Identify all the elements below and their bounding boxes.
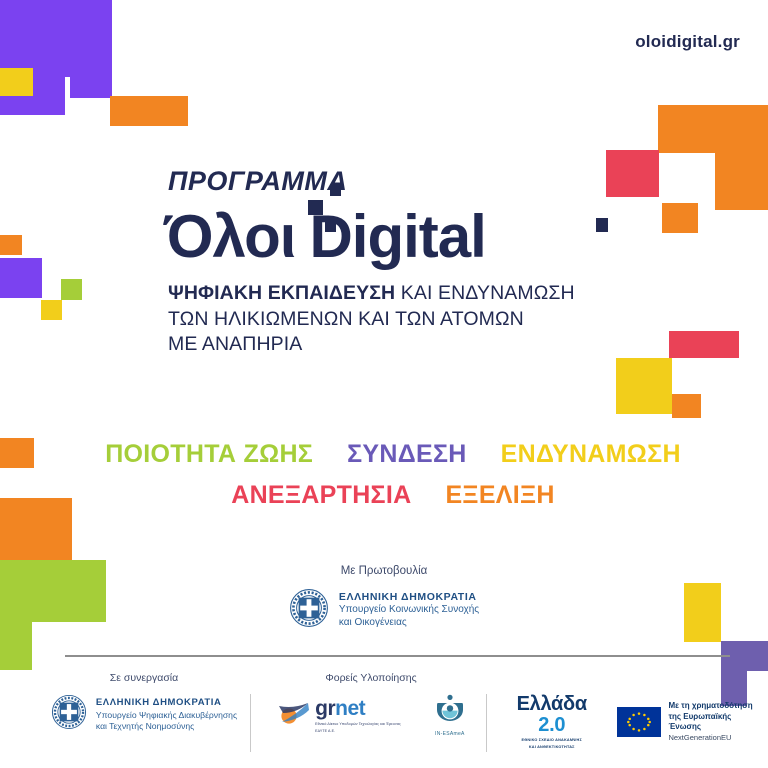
deco-purple-tl-arm [0,0,65,115]
ellada-subtitle-1: ΕΘΝΙΚΟ ΣΧΕΔΙΟ ΑΝΑΚΑΜΨΗΣ [504,738,599,743]
grnet-subtitle-2: ΕΔΥΤΕ Α.Ε. [315,729,401,734]
pixel-dot-icon [330,185,341,196]
pixel-dot-icon [308,200,323,215]
subtitle-emphasis: ΨΗΦΙΑΚΗ ΕΚΠΑΙΔΕΥΣΗ [168,282,395,304]
ellada-version: 2.0 [538,714,565,736]
inesamea-emblem-icon [435,711,465,728]
footer-separator [486,694,487,752]
keyword-list: ΠΟΙΟΤΗΤΑ ΖΩΗΣΣΥΝΔΕΣΗΕΝΔΥΝΑΜΩΣΗ ΑΝΕΞΑΡΤΗΣ… [0,440,768,510]
keyword-2: ΣΥΝΔΕΣΗ [347,440,467,469]
program-kicker: ΠΡΟΓΡΑΜΜΑ [168,168,636,195]
initiative-label: Με Πρωτοβουλία [0,565,768,577]
initiative-emblem-sub-2: και Οικογένειας [339,617,479,630]
eu-funding-line-3: NextGenerationEU [668,733,756,743]
keyword-1: ΠΟΙΟΤΗΤΑ ΖΩΗΣ [105,440,313,469]
keyword-3: ΕΝΔΥΝΑΜΩΣΗ [501,440,681,469]
subtitle-rest: ΚΑΙ ΕΝΔΥΝΑΜΩΣΗ [395,282,575,304]
deco-orange-tr-arm [715,105,768,210]
keyword-1: ΑΝΕΞΑΡΤΗΣΙΑ [231,481,411,510]
initiative-emblem-text: ΕΛΛΗΝΙΚΗ ΔΗΜΟΚΡΑΤΙΑ Υπουργείο Κοινωνικής… [339,591,479,630]
deco-purple-left [0,258,42,298]
ellada-2-logo: Ελλάδα 2.0 ΕΘΝΙΚΟ ΣΧΕΔΙΟ ΑΝΑΚΑΜΨΗΣ ΚΑΙ Α… [504,694,599,750]
deco-orange-tl [110,96,188,126]
footer-cooperation-column: Σε συνεργασία ΕΛΛΗΝΙΚΗ ΔΗΜΟΚΡΑΤΙΑ Υπουργ… [38,672,250,735]
poster-canvas: oloidigital.gr ΠΡΟΓΡΑΜΜΑ Όλοι Digital ΨΗ… [0,0,768,768]
deco-red-right [669,331,739,358]
grnet-word-net: net [335,697,365,720]
ellada-subtitle-2: ΚΑΙ ΑΝΘΕΚΤΙΚΟΤΗΤΑΣ [504,745,599,750]
initiative-emblem-title: ΕΛΛΗΝΙΚΗ ΔΗΜΟΚΡΑΤΙΑ [339,591,479,604]
grnet-word-gr: gr [315,697,335,720]
title-latin-wrap: Digital [309,207,485,267]
cooperation-emblem-sub-1: Υπουργείο Ψηφιακής Διακυβέρνησης [96,710,237,721]
initiative-block: Με Πρωτοβουλία ΕΛΛΗΝΙΚΗ ΔΗΜΟΚΡΑΤΙΑ Υπουρ… [0,565,768,633]
ellada-word: Ελλάδα [517,693,587,715]
grnet-swoosh-icon [277,700,311,731]
deco-orange-tr-sm [662,203,698,233]
keyword-2: ΕΞΕΛΙΞΗ [445,481,554,510]
footer-implementation-column: Φορείς Υλοποίησης grnet Εθνικό Δίκτυο Υπ… [262,672,480,737]
cooperation-emblem-title: ΕΛΛΗΝΙΚΗ ΔΗΜΟΚΡΑΤΙΑ [96,697,237,709]
deco-purple-tl-low [70,50,112,98]
grnet-subtitle-1: Εθνικό Δίκτυο Υποδομών Τεχνολογίας και Έ… [315,722,401,727]
eu-flag-icon [617,707,661,737]
deco-yellow-right [616,358,672,414]
implementation-label: Φορείς Υλοποίησης [262,672,480,684]
title-greek: Όλοι [164,207,295,267]
footer-block: Σε συνεργασία ΕΛΛΗΝΙΚΗ ΔΗΜΟΚΡΑΤΙΑ Υπουργ… [0,672,768,768]
deco-green-left [61,279,82,300]
eu-funding-logo: Με τη χρηματοδότηση της Ευρωπαϊκής Ένωση… [617,701,756,743]
keyword-row-1: ΠΟΙΟΤΗΤΑ ΖΩΗΣΣΥΝΔΕΣΗΕΝΔΥΝΑΜΩΣΗ [0,440,768,469]
program-title: Όλοι Digital [164,197,636,267]
cooperation-emblem-row: ΕΛΛΗΝΙΚΗ ΔΗΜΟΚΡΑΤΙΑ Υπουργείο Ψηφιακής Δ… [38,694,250,735]
deco-orange-right-sm [672,394,701,418]
initiative-emblem-sub-1: Υπουργείο Κοινωνικής Συνοχής [339,604,479,617]
eu-funding-line-2: της Ευρωπαϊκής Ένωσης [668,712,731,732]
initiative-emblem-row: ΕΛΛΗΝΙΚΗ ΔΗΜΟΚΡΑΤΙΑ Υπουργείο Κοινωνικής… [289,588,479,633]
website-url[interactable]: oloidigital.gr [635,32,740,52]
subtitle-line-2: ΤΩΝ ΗΛΙΚΙΩΜΕΝΩΝ ΚΑΙ ΤΩΝ ΑΤΟΜΩΝ [168,307,636,333]
eu-funding-line-1: Με τη χρηματοδότηση [668,701,752,710]
keyword-row-2: ΑΝΕΞΑΡΤΗΣΙΑΕΞΕΛΙΞΗ [0,481,768,510]
greek-republic-emblem-icon [289,588,329,633]
funding-logo-row: Ελλάδα 2.0 ΕΘΝΙΚΟ ΣΧΕΔΙΟ ΑΝΑΚΑΜΨΗΣ ΚΑΙ Α… [498,694,756,750]
deco-yellow-tl [0,68,33,96]
cooperation-emblem-text: ΕΛΛΗΝΙΚΗ ΔΗΜΟΚΡΑΤΙΑ Υπουργείο Ψηφιακής Δ… [96,697,237,731]
inesamea-logo[interactable]: IN-ESAmeA [435,694,465,737]
deco-yellow-left [41,300,62,320]
greek-republic-emblem-icon [51,694,87,735]
footer-funding-column: . Ελλάδα 2.0 ΕΘΝΙΚΟ ΣΧΕΔΙΟ ΑΝΑΚΑΜΨΗΣ ΚΑΙ… [498,672,756,750]
grnet-logo[interactable]: grnet Εθνικό Δίκτυο Υποδομών Τεχνολογίας… [277,698,401,734]
footer-separator [250,694,251,752]
cooperation-emblem-sub-2: και Τεχνητής Νοημοσύνης [96,721,237,732]
pixel-dot-icon [325,221,336,232]
deco-orange-left-sm [0,235,22,255]
implementation-logo-row: grnet Εθνικό Δίκτυο Υποδομών Τεχνολογίας… [262,694,480,737]
subtitle-line-3: ΜΕ ΑΝΑΠΗΡΙΑ [168,332,636,358]
cooperation-label: Σε συνεργασία [38,672,250,684]
title-latin: Digital [309,203,485,270]
headline-block: ΠΡΟΓΡΑΜΜΑ Όλοι Digital ΨΗΦΙΑΚΗ ΕΚΠΑΙΔΕΥΣ… [166,168,636,358]
footer-divider [65,655,730,657]
inesamea-caption: IN-ESAmeA [435,731,465,737]
program-subtitle: ΨΗΦΙΑΚΗ ΕΚΠΑΙΔΕΥΣΗ ΚΑΙ ΕΝΔΥΝΑΜΩΣΗ ΤΩΝ ΗΛ… [168,281,636,358]
